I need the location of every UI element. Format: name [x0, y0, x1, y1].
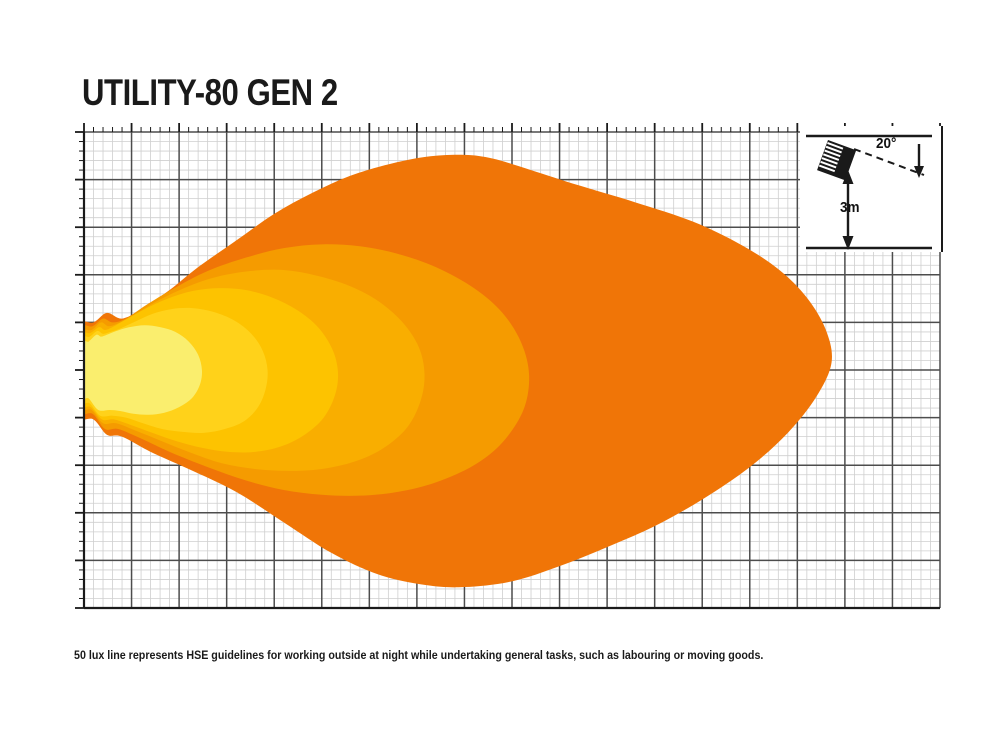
beam-chart: [0, 0, 1000, 750]
footnote-text: 50 lux line represents HSE guidelines fo…: [74, 650, 763, 662]
beam-pattern-diagram: UTILITY-80 GEN 2 20° 3m 50 lux line repr…: [0, 0, 1000, 750]
mounting-inset: [800, 126, 944, 252]
inset-angle-label: 20°: [876, 136, 896, 151]
inset-height-label: 3m: [840, 200, 860, 215]
